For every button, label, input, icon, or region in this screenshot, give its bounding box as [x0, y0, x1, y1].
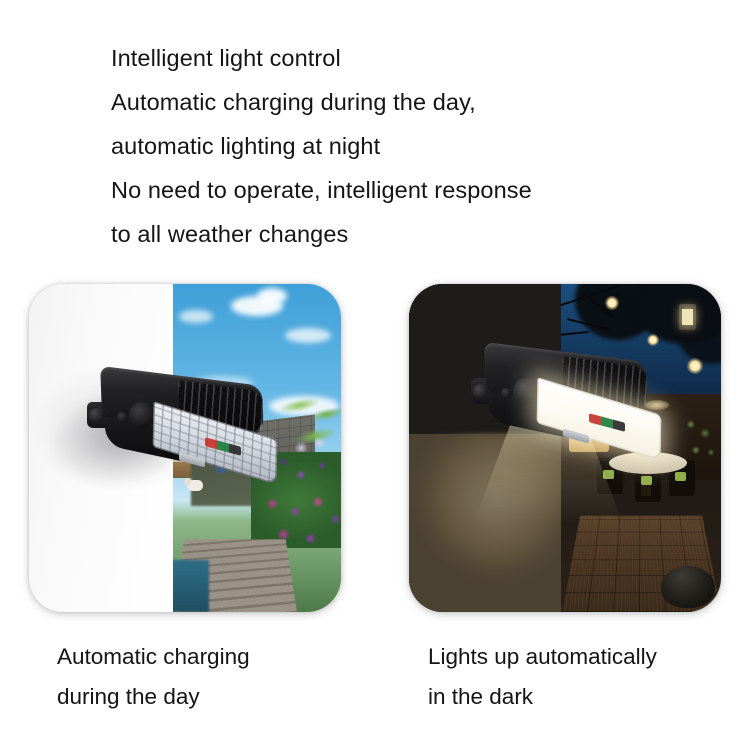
chair-cushion — [641, 476, 652, 485]
bare-branch — [561, 331, 589, 336]
night-scene-card — [409, 284, 721, 612]
lamp-pivot-knob-secondary — [117, 412, 128, 423]
dog-figure — [187, 480, 203, 491]
lamp-hinge — [129, 402, 155, 428]
day-caption-line-1: Automatic charging — [57, 637, 250, 677]
wall-lantern-fixture — [679, 304, 696, 330]
solar-wall-lamp-night — [471, 348, 649, 452]
solar-wall-lamp-day — [87, 372, 265, 476]
lamp-hinge — [513, 378, 539, 404]
day-scene — [29, 284, 341, 612]
lamp-pivot-knob — [89, 408, 104, 423]
garden-planter — [661, 566, 715, 608]
day-caption-line-2: during the day — [57, 677, 250, 717]
cloud-icon — [257, 288, 287, 304]
chair-cushion — [675, 472, 686, 481]
day-scene-card — [29, 284, 341, 612]
headline-line-5: to all weather changes — [111, 212, 711, 256]
cloud-icon — [179, 310, 213, 323]
night-scene — [409, 284, 721, 612]
headline-block: Intelligent light control Automatic char… — [111, 36, 711, 256]
night-caption-line-1: Lights up automatically — [428, 637, 657, 677]
hanging-lantern-light — [605, 296, 619, 310]
night-caption-line-2: in the dark — [428, 677, 657, 717]
headline-line-1: Intelligent light control — [111, 36, 711, 80]
day-caption: Automatic charging during the day — [57, 637, 250, 717]
chair-cushion — [603, 470, 614, 479]
headline-line-3: automatic lighting at night — [111, 124, 711, 168]
hanging-lantern-light — [647, 334, 659, 346]
lamp-pivot-knob-secondary — [501, 388, 512, 399]
hanging-lantern-light — [687, 358, 703, 374]
lamp-pivot-knob — [473, 384, 488, 399]
cloud-icon — [285, 328, 331, 343]
headline-line-2: Automatic charging during the day, — [111, 80, 711, 124]
headline-line-4: No need to operate, intelligent response — [111, 168, 711, 212]
product-image-row — [0, 284, 750, 614]
night-caption: Lights up automatically in the dark — [428, 637, 657, 717]
water-pond — [173, 560, 209, 612]
